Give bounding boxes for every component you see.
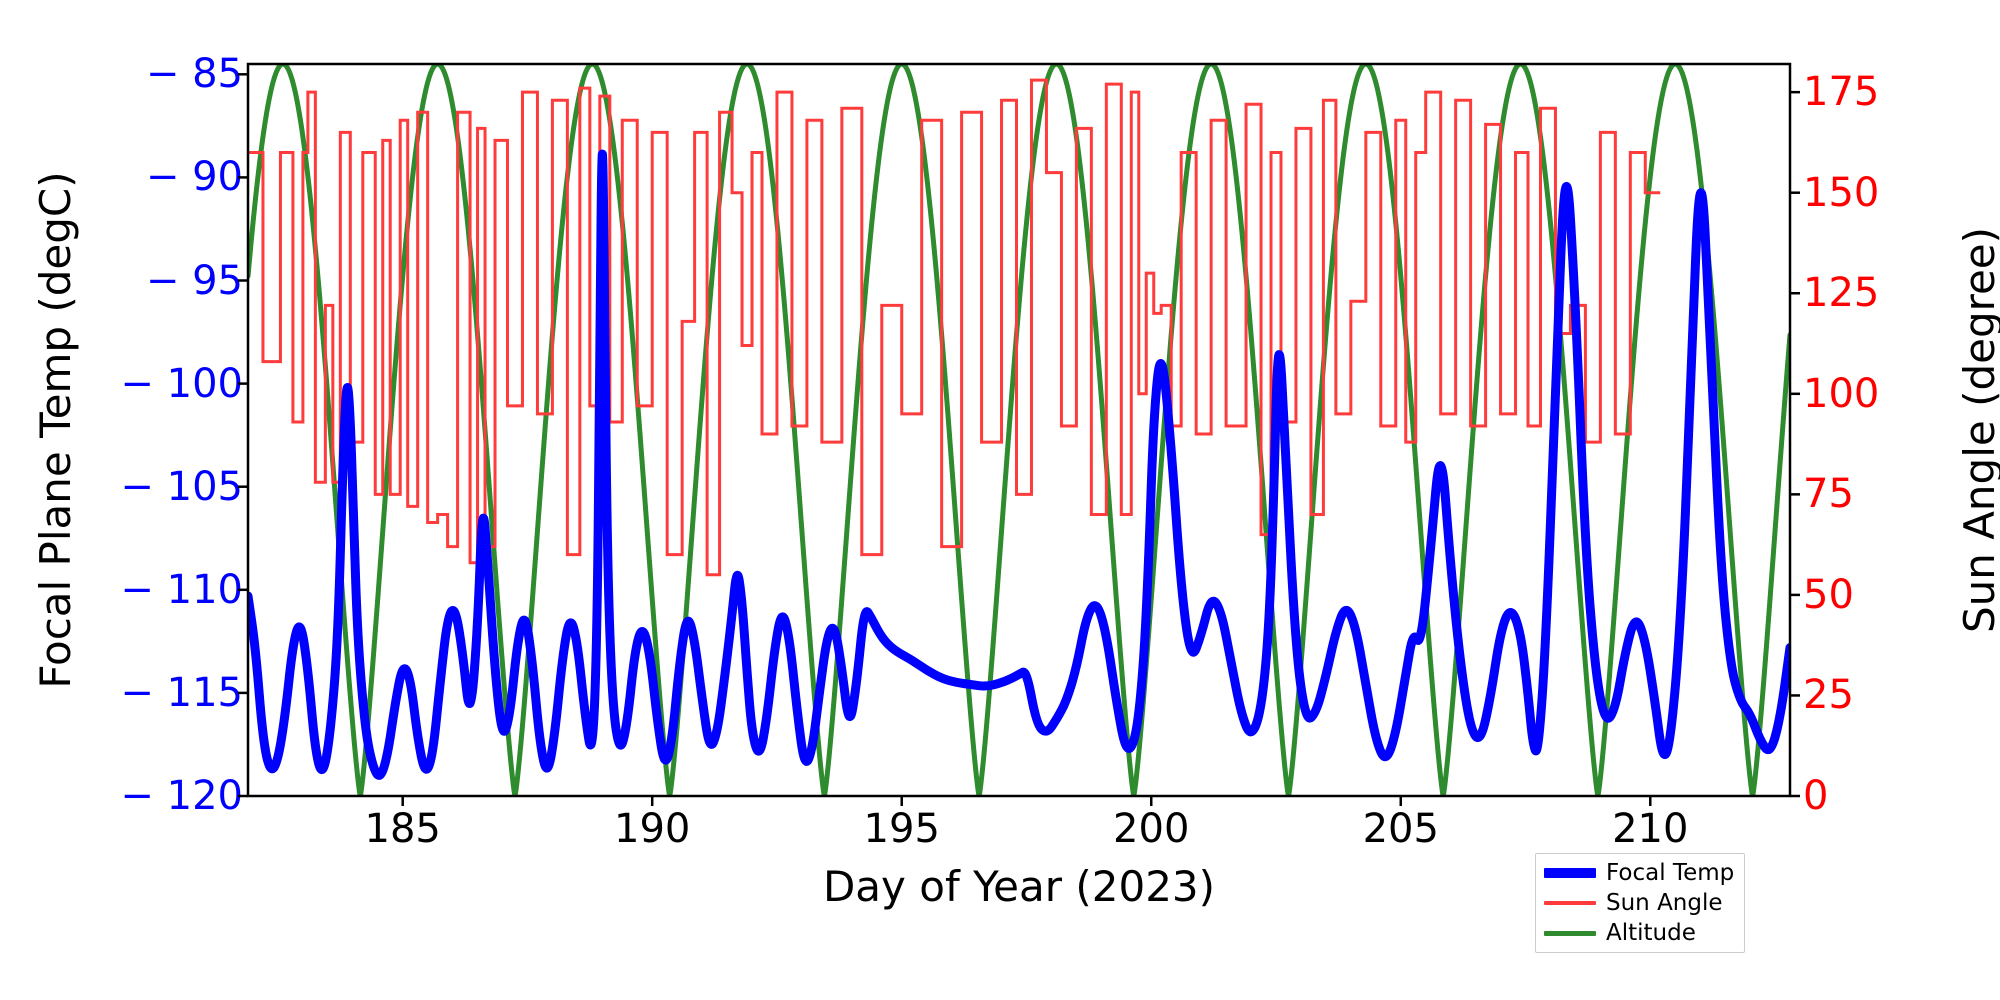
legend-label-focal-temp: Focal Temp: [1606, 860, 1734, 886]
legend-swatch-sun-angle: [1544, 901, 1596, 905]
legend-swatch-altitude: [1544, 931, 1596, 936]
series-focal-temp-line: [248, 154, 1790, 775]
legend-label-altitude: Altitude: [1606, 920, 1696, 946]
plot-area: [0, 0, 2000, 1000]
legend-item-sun-angle[interactable]: Sun Angle: [1544, 891, 1734, 915]
chart-legend[interactable]: Focal Temp Sun Angle Altitude: [1535, 853, 1745, 953]
legend-item-focal-temp[interactable]: Focal Temp: [1544, 861, 1734, 885]
legend-item-altitude[interactable]: Altitude: [1544, 921, 1734, 945]
series-altitude-line: [248, 64, 1790, 796]
legend-swatch-focal-temp: [1544, 868, 1596, 878]
legend-label-sun-angle: Sun Angle: [1606, 890, 1723, 916]
axes-spine: [248, 64, 1790, 796]
chart-figure: Focal Plane Temp (degC) Sun Angle (degre…: [0, 0, 2000, 1000]
